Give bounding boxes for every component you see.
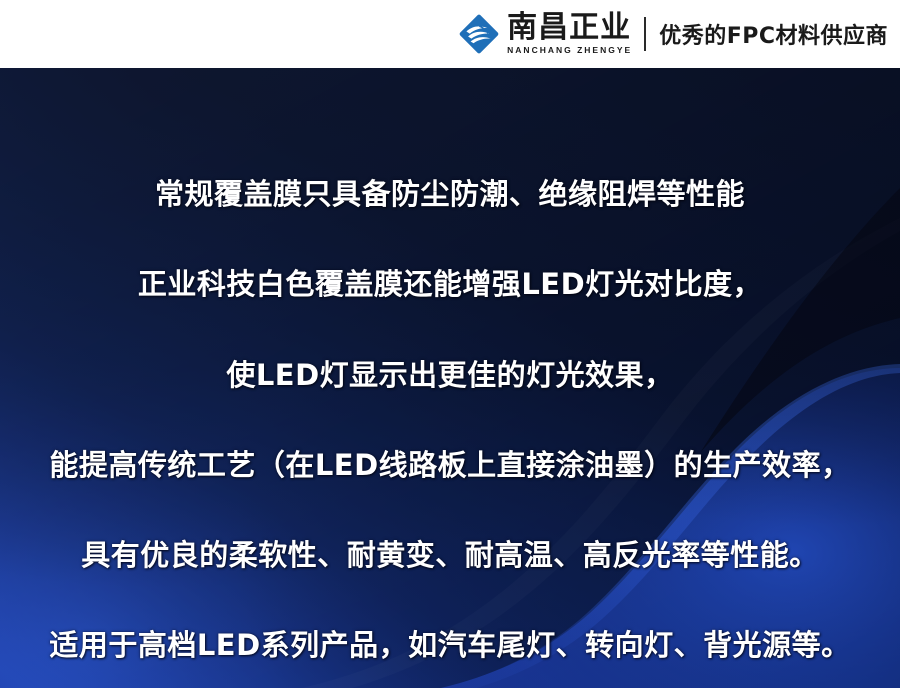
brand-logo-lockup[interactable]: 南昌正业 NANCHANG ZHENGYE 优秀的FPC材料供应商 bbox=[458, 0, 888, 68]
copy-line-4: 能提高传统工艺（在LED线路板上直接涂油墨）的生产效率， bbox=[0, 447, 900, 483]
slide-header-bar: 南昌正业 NANCHANG ZHENGYE 优秀的FPC材料供应商 bbox=[0, 0, 900, 68]
brand-wordmark: 南昌正业 NANCHANG ZHENGYE bbox=[507, 13, 632, 55]
copy-line-3: 使LED灯显示出更佳的灯光效果， bbox=[0, 357, 900, 393]
brand-divider bbox=[644, 17, 646, 51]
copy-line-6: 适用于高档LED系列产品，如汽车尾灯、转向灯、背光源等。 bbox=[0, 627, 900, 663]
brand-name-en: NANCHANG ZHENGYE bbox=[507, 46, 632, 55]
copy-line-1: 常规覆盖膜只具备防尘防潮、绝缘阻焊等性能 bbox=[0, 176, 900, 212]
brand-name-cn: 南昌正业 bbox=[507, 13, 632, 44]
presentation-slide: 常规覆盖膜只具备防尘防潮、绝缘阻焊等性能 正业科技白色覆盖膜还能增强LED灯光对… bbox=[0, 0, 900, 688]
swirl-diamond-icon bbox=[458, 13, 500, 55]
slide-body-copy: 常规覆盖膜只具备防尘防潮、绝缘阻焊等性能 正业科技白色覆盖膜还能增强LED灯光对… bbox=[0, 68, 900, 688]
copy-line-2: 正业科技白色覆盖膜还能增强LED灯光对比度， bbox=[0, 266, 900, 302]
copy-line-5: 具有优良的柔软性、耐黄变、耐高温、高反光率等性能。 bbox=[0, 537, 900, 573]
brand-tagline: 优秀的FPC材料供应商 bbox=[659, 18, 888, 50]
